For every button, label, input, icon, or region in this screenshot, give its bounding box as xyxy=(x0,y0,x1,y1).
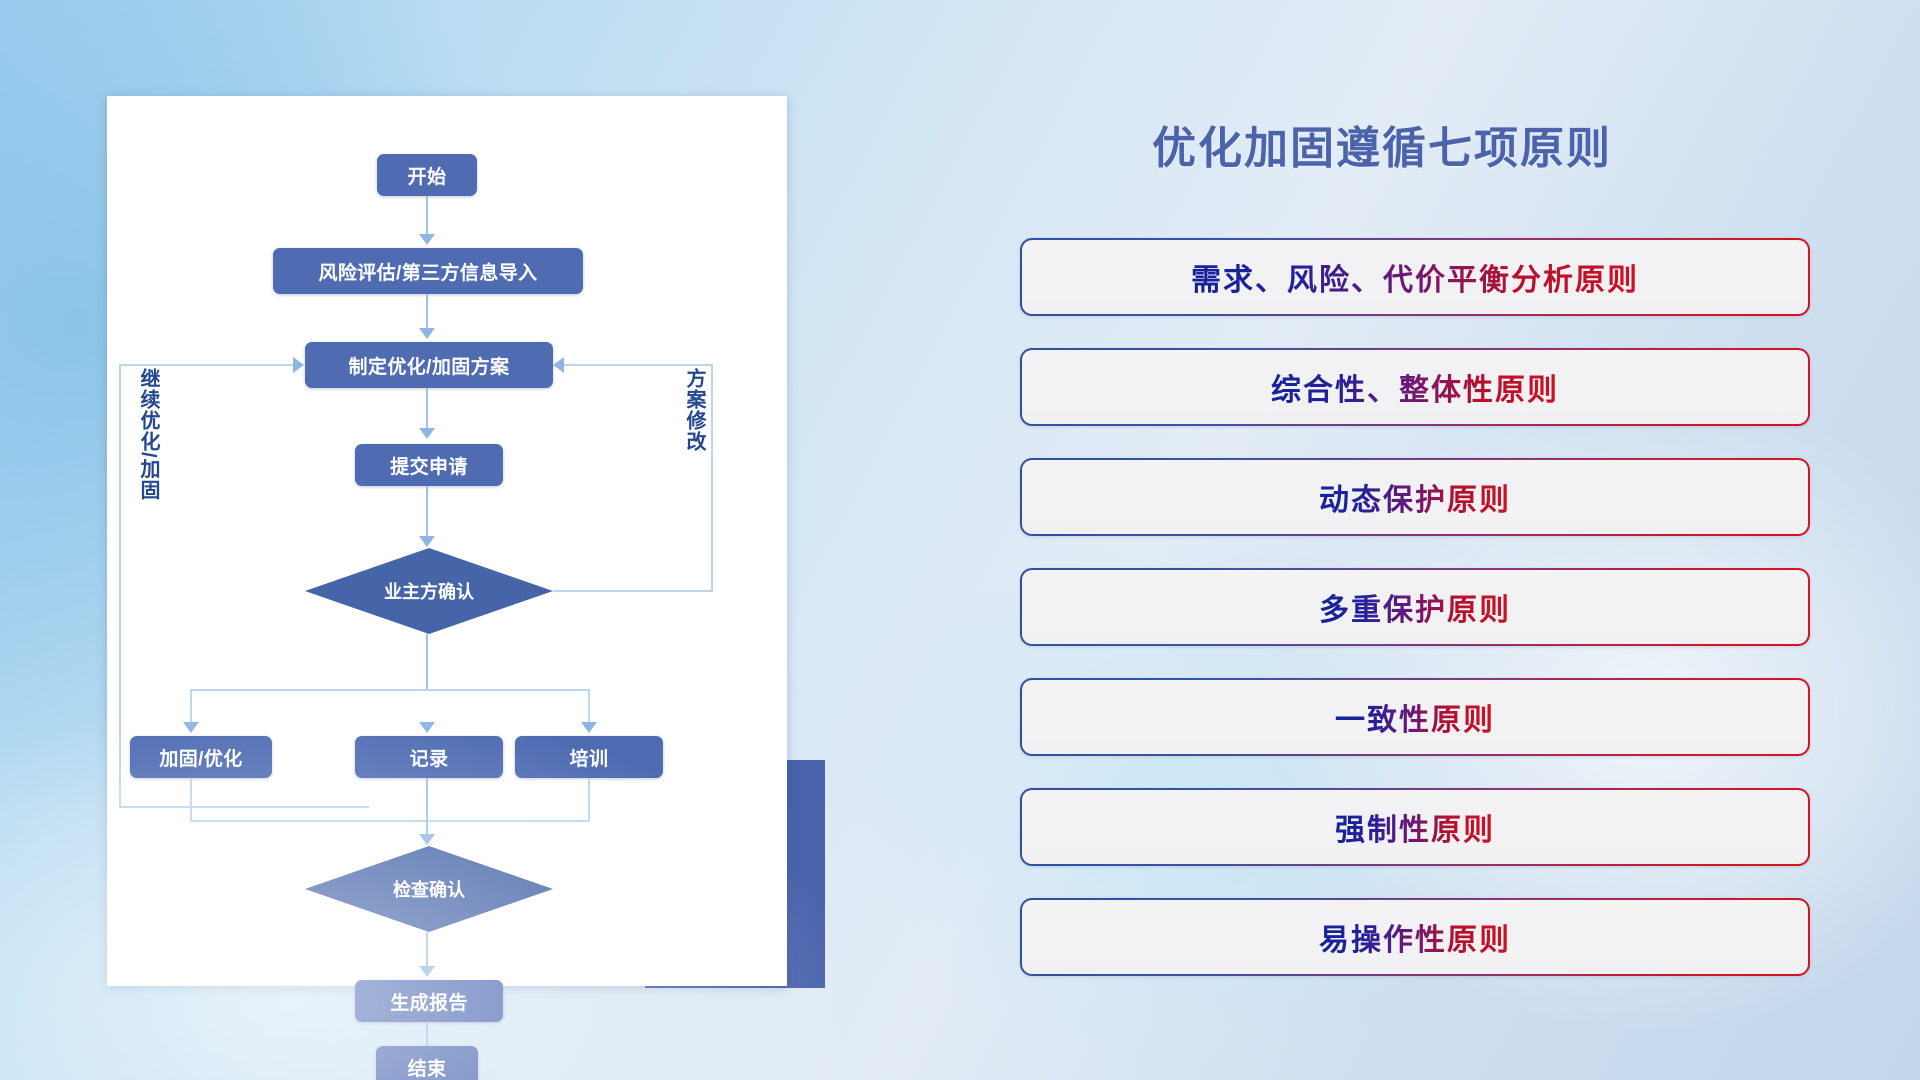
branch-bus-top xyxy=(190,689,590,691)
flow-node-label: 检查确认 xyxy=(393,876,465,902)
flowchart-diagram: 开始 风险评估/第三方信息导入 制定优化/加固方案 提交申请 xyxy=(107,96,787,986)
slide-canvas: 开始 风险评估/第三方信息导入 制定优化/加固方案 提交申请 xyxy=(0,0,1920,1080)
principle-label: 一致性原则 xyxy=(1335,695,1495,739)
flow-node-end[interactable]: 结束 xyxy=(376,1046,478,1080)
principle-label: 多重保护原则 xyxy=(1319,585,1511,629)
principle-card-4[interactable]: 多重保护原则 xyxy=(1020,568,1810,646)
principle-card-2[interactable]: 综合性、整体性原则 xyxy=(1020,348,1810,426)
flow-node-report[interactable]: 生成报告 xyxy=(355,980,503,1022)
flow-node-label: 风险评估/第三方信息导入 xyxy=(318,258,537,285)
flow-node-label: 培训 xyxy=(570,744,609,771)
principle-label: 综合性、整体性原则 xyxy=(1271,365,1559,409)
right-loop-top xyxy=(563,364,713,366)
principle-label: 强制性原则 xyxy=(1335,805,1495,849)
arrowhead-down-icon xyxy=(419,234,435,245)
flow-node-start[interactable]: 开始 xyxy=(377,154,477,196)
flow-decision-check-confirm[interactable]: 检查确认 xyxy=(305,846,553,932)
principle-label: 易操作性原则 xyxy=(1319,915,1511,959)
flow-node-label: 记录 xyxy=(410,744,449,771)
arrowhead-down-icon xyxy=(183,722,199,733)
owner-to-bus xyxy=(426,634,428,690)
flowchart-card: 开始 风险评估/第三方信息导入 制定优化/加固方案 提交申请 xyxy=(107,96,787,986)
merge-bus xyxy=(190,820,590,822)
flow-node-label: 结束 xyxy=(408,1054,447,1080)
panel-title: 优化加固遵循七项原则 xyxy=(1152,112,1612,176)
flow-node-reinforce[interactable]: 加固/优化 xyxy=(130,736,272,778)
merge-left-rise xyxy=(190,778,192,822)
principle-label: 需求、风险、代价平衡分析原则 xyxy=(1191,255,1639,299)
arrowhead-down-icon xyxy=(581,722,597,733)
arrowhead-right-icon xyxy=(293,357,304,373)
left-loop-bottom xyxy=(119,806,369,808)
flow-node-label: 加固/优化 xyxy=(159,744,242,771)
arrowhead-down-icon xyxy=(419,722,435,733)
arrowhead-down-icon xyxy=(419,834,435,845)
flow-node-label: 生成报告 xyxy=(390,988,468,1015)
merge-to-check xyxy=(426,778,428,840)
flow-node-risk-assessment[interactable]: 风险评估/第三方信息导入 xyxy=(273,248,583,294)
flow-node-record[interactable]: 记录 xyxy=(355,736,503,778)
merge-right-rise xyxy=(588,778,590,822)
principles-panel: 优化加固遵循七项原则 需求、风险、代价平衡分析原则 综合性、整体性原则 动态保护… xyxy=(1020,0,1920,1080)
flow-node-label: 业主方确认 xyxy=(384,578,474,604)
flow-node-training[interactable]: 培训 xyxy=(515,736,663,778)
arrowhead-down-icon xyxy=(419,536,435,547)
left-loop-top xyxy=(119,364,295,366)
flow-node-label: 开始 xyxy=(408,162,447,189)
principle-label: 动态保护原则 xyxy=(1319,475,1511,519)
principle-card-7[interactable]: 易操作性原则 xyxy=(1020,898,1810,976)
right-loop-bottom xyxy=(553,590,713,592)
arrowhead-down-icon xyxy=(419,428,435,439)
flow-node-label: 提交申请 xyxy=(390,452,468,479)
arrowhead-left-icon xyxy=(553,357,564,373)
arrowhead-down-icon xyxy=(419,328,435,339)
flow-node-plan[interactable]: 制定优化/加固方案 xyxy=(305,342,553,388)
flow-node-submit[interactable]: 提交申请 xyxy=(355,444,503,486)
edge-label-continue-optimize: 继续优化/加固 xyxy=(137,368,158,501)
right-loop-vertical xyxy=(711,364,713,592)
flow-decision-owner-confirm[interactable]: 业主方确认 xyxy=(305,548,553,634)
arrowhead-down-icon xyxy=(419,966,435,977)
principle-card-3[interactable]: 动态保护原则 xyxy=(1020,458,1810,536)
principle-card-5[interactable]: 一致性原则 xyxy=(1020,678,1810,756)
edge-label-plan-revision: 方案修改 xyxy=(683,368,704,452)
flow-node-label: 制定优化/加固方案 xyxy=(349,352,510,379)
principle-card-6[interactable]: 强制性原则 xyxy=(1020,788,1810,866)
connector-submit-to-owner xyxy=(426,486,428,542)
principle-card-1[interactable]: 需求、风险、代价平衡分析原则 xyxy=(1020,238,1810,316)
left-loop-vertical xyxy=(119,364,121,808)
